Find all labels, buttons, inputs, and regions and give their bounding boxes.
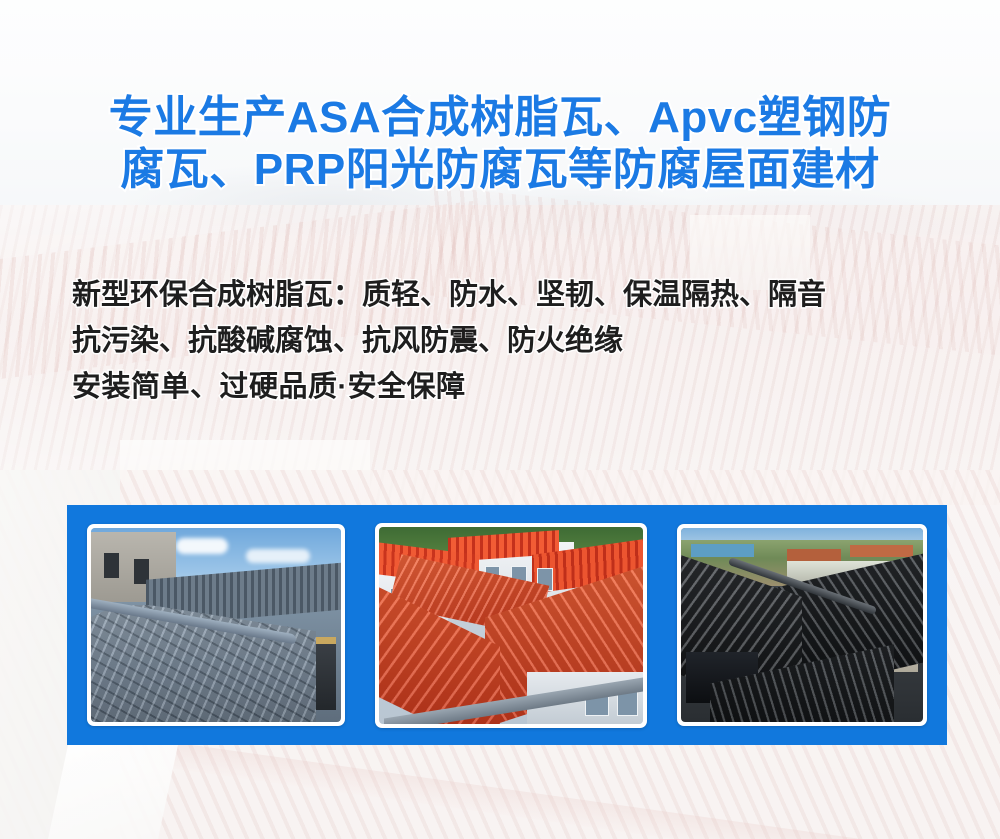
headline: 专业生产ASA合成树脂瓦、Apvc塑钢防 腐瓦、PRP阳光防腐瓦等防腐屋面建材 — [0, 92, 1000, 196]
black-resin-tile-roof-photo[interactable] — [677, 524, 927, 726]
gray-photo-cloud-right — [246, 549, 310, 563]
subtitle-line-1: 新型环保合成树脂瓦：质轻、防水、坚韧、保温隔热、隔音 — [72, 272, 962, 318]
headline-line-1: 专业生产ASA合成树脂瓦、Apvc塑钢防 — [55, 92, 945, 144]
product-banner: 专业生产ASA合成树脂瓦、Apvc塑钢防 腐瓦、PRP阳光防腐瓦等防腐屋面建材 … — [0, 0, 1000, 839]
gray-photo-window-1 — [104, 553, 119, 578]
subtitle-block: 新型环保合成树脂瓦：质轻、防水、坚韧、保温隔热、隔音 抗污染、抗酸碱腐蚀、抗风防… — [72, 272, 962, 410]
black-photo-far-roof-blue — [691, 544, 754, 558]
red-roof-image — [379, 527, 643, 724]
subtitle-line-2: 抗污染、抗酸碱腐蚀、抗风防震、防火绝缘 — [72, 318, 962, 364]
gray-photo-cloud-left — [176, 538, 228, 554]
photo-gallery-panel — [67, 505, 947, 745]
subtitle-line-3: 安装简单、过硬品质·安全保障 — [72, 364, 962, 410]
black-roof-image — [681, 528, 923, 722]
black-photo-far-roof-red-1 — [787, 549, 840, 561]
gray-roof-image — [91, 528, 341, 722]
red-resin-tile-roof-photo[interactable] — [375, 523, 647, 728]
headline-line-2: 腐瓦、PRP阳光防腐瓦等防腐屋面建材 — [55, 144, 945, 196]
black-photo-far-roof-red-2 — [850, 545, 913, 557]
gray-resin-tile-roof-photo[interactable] — [87, 524, 345, 726]
